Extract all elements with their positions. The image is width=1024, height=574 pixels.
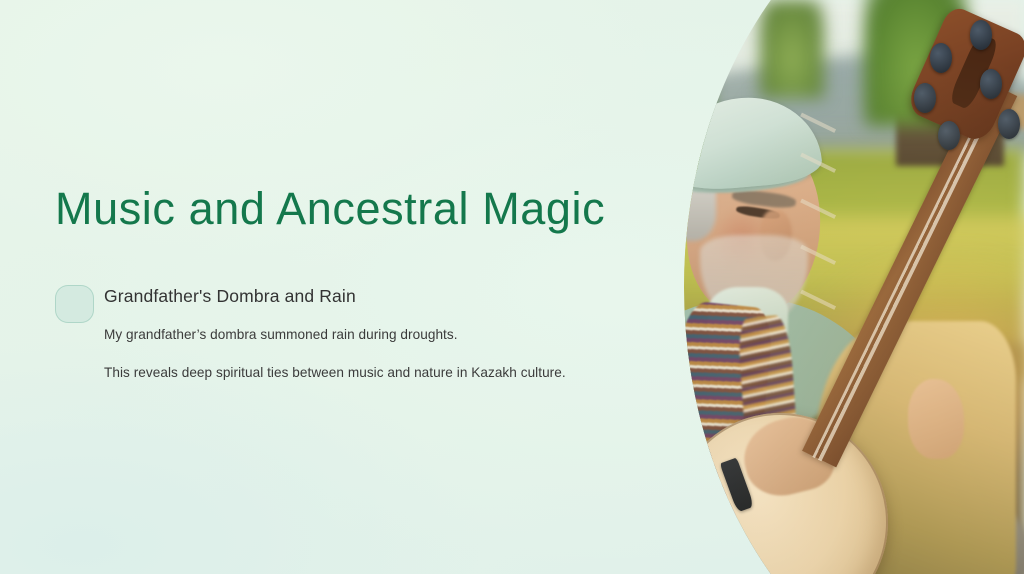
photo-edge-fade bbox=[624, 0, 650, 574]
photo-panel bbox=[624, 0, 1024, 574]
slide-canvas: Music and Ancestral Magic Grandfather's … bbox=[0, 0, 1024, 574]
bullet-block: Grandfather's Dombra and Rain My grandfa… bbox=[55, 282, 595, 396]
dombra-player-photo bbox=[624, 0, 1024, 574]
squircle-bullet-icon bbox=[55, 285, 94, 323]
bullet-paragraph-2: This reveals deep spiritual ties between… bbox=[104, 362, 589, 383]
bullet-heading: Grandfather's Dombra and Rain bbox=[104, 282, 595, 308]
bullet-item: Grandfather's Dombra and Rain bbox=[55, 282, 595, 308]
bullet-paragraph-1: My grandfather’s dombra summoned rain du… bbox=[104, 324, 595, 345]
slide-title: Music and Ancestral Magic bbox=[55, 185, 605, 232]
photo-light-overlay bbox=[624, 0, 1024, 574]
